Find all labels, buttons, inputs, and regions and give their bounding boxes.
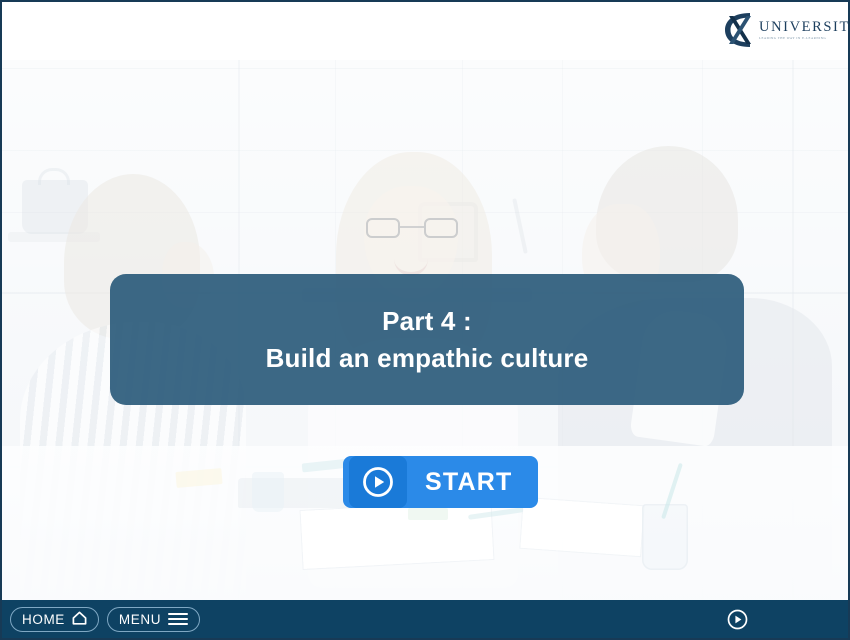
replay-button[interactable] [727, 609, 748, 630]
play-circle-icon [349, 456, 407, 508]
sticky-note-green [408, 508, 448, 520]
hamburger-icon [168, 613, 188, 625]
cup-object [252, 472, 284, 512]
bottom-navigation-bar: HOME MENU [2, 600, 848, 638]
paper-sheet-right [520, 498, 643, 556]
slide-frame: UNIVERSITY LEADING THE WAY IN E-LEARNING… [0, 0, 850, 640]
logo-tagline: LEADING THE WAY IN E-LEARNING [759, 37, 850, 40]
home-button-label: HOME [22, 612, 65, 627]
house-icon [72, 611, 87, 628]
home-button[interactable]: HOME [10, 607, 99, 632]
glasses-icon [366, 218, 458, 238]
title-line-2: Build an empathic culture [266, 340, 589, 377]
university-logo: UNIVERSITY LEADING THE WAY IN E-LEARNING [720, 8, 840, 52]
header-bar: UNIVERSITY LEADING THE WAY IN E-LEARNING [2, 2, 848, 60]
menu-button-label: MENU [119, 612, 161, 627]
logo-wordmark: UNIVERSITY [759, 20, 850, 35]
paper-sheet-left [301, 501, 494, 569]
slide-title-card: Part 4 : Build an empathic culture [110, 274, 744, 405]
play-circle-icon [727, 609, 748, 630]
start-button[interactable]: START [343, 456, 538, 508]
title-line-1: Part 4 : [382, 303, 472, 340]
x-monogram-icon [720, 10, 758, 50]
menu-button[interactable]: MENU [107, 607, 200, 632]
sticky-note-yellow [175, 468, 222, 488]
start-button-label: START [425, 468, 512, 497]
